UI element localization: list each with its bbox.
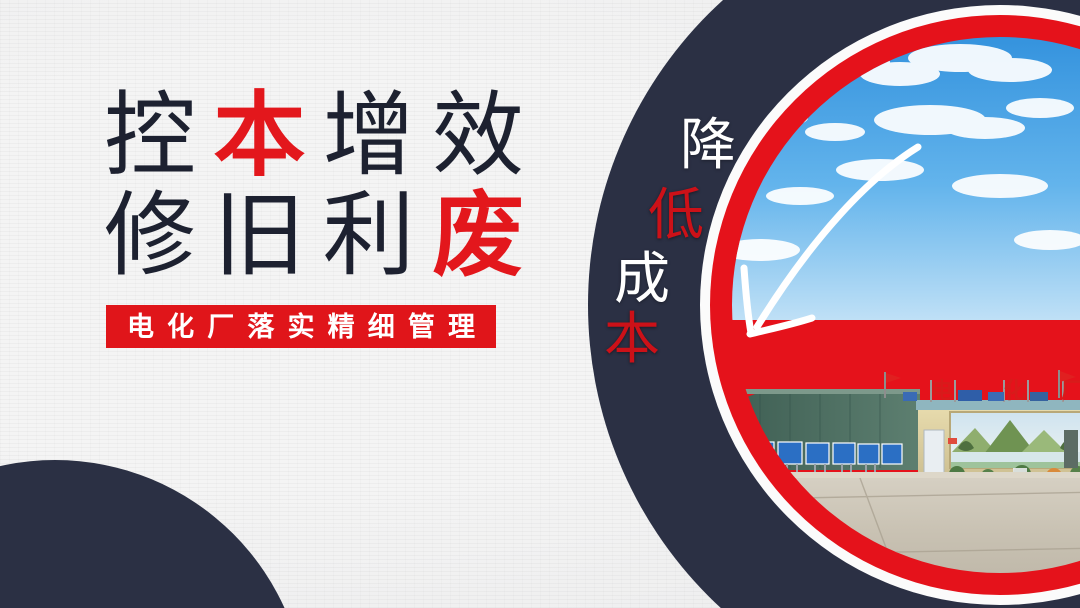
subtitle-banner: 电 化 厂 落 实 精 细 管 理 [106,305,496,348]
headline-char-li: 利 [323,186,415,286]
rooftop-sign-1: 电 [931,378,953,403]
poster-canvas: 电 化 厂 [0,0,1080,608]
headline-char-zeng: 增 [323,86,415,186]
storage-tanks [1064,424,1080,468]
banner-char-3: 厂 [207,312,234,342]
headline-block: 控 本 增 效 修 旧 利 废 [104,86,524,286]
headline-line-1: 控 本 增 效 [104,86,524,186]
banner-char-8: 管 [408,312,435,342]
building-door [924,430,944,474]
banner-char-4: 落 [247,312,274,342]
banner-char-5: 实 [288,312,315,342]
corner-navy-circle [0,460,307,608]
banner-char-2: 化 [167,312,194,342]
headline-char-jiu: 旧 [213,186,305,286]
headline-char-ben: 本 [213,86,305,186]
headline-char-fei: 废 [432,186,524,286]
headline-char-xiao: 效 [432,86,524,186]
headline-char-xiu: 修 [104,186,196,286]
rooftop-sign-2: 化 [1004,378,1026,403]
banner-char-6: 精 [328,312,355,342]
banner-char-7: 细 [368,312,395,342]
rooftop-sign-3: 厂 [1061,378,1080,403]
headline-char-kong: 控 [104,86,196,186]
banner-char-9: 理 [448,312,475,342]
headline-line-2: 修 旧 利 废 [104,186,524,286]
subtitle-banner-text: 电 化 厂 落 实 精 细 管 理 [127,312,475,342]
banner-char-1: 电 [127,312,154,342]
